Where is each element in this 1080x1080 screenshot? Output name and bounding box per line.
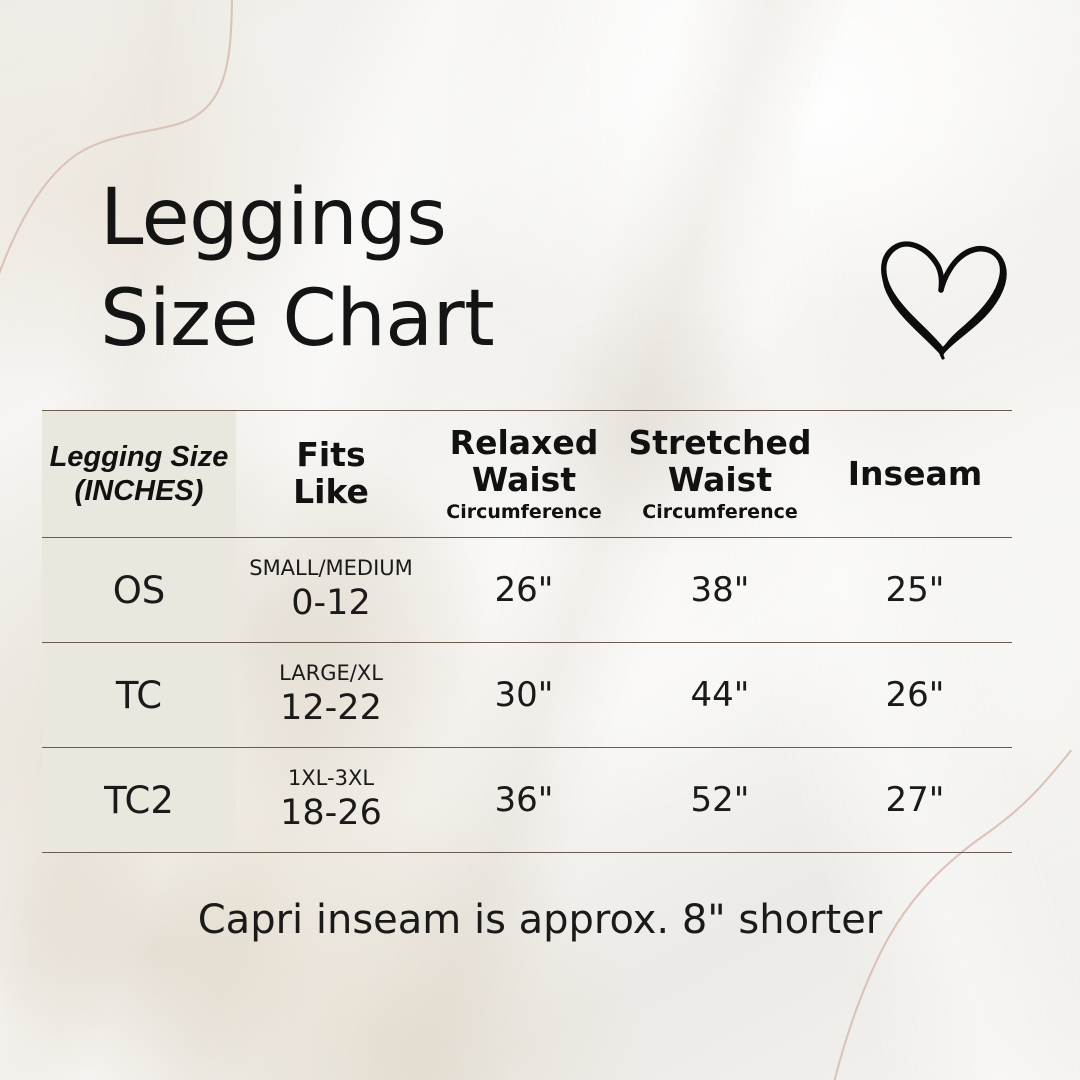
header-stretched-waist-line2: Waist	[622, 462, 818, 499]
row-1-relaxed-waist: 30"	[426, 643, 622, 748]
header-legging-size-main: Legging Size	[42, 440, 236, 474]
heart-doodle-icon	[872, 228, 1012, 360]
table-row: TC LARGE/XL 12-22 30" 44" 26"	[42, 643, 1012, 748]
header-fits-like-sub: Like	[236, 474, 426, 511]
row-2-relaxed-waist: 36"	[426, 748, 622, 853]
header-relaxed-waist-line1: Relaxed	[426, 425, 622, 462]
table-header-row: Legging Size (INCHES) Fits Like Relaxed …	[42, 411, 1012, 538]
size-chart-table-wrapper: Legging Size (INCHES) Fits Like Relaxed …	[42, 410, 1012, 853]
row-1-inseam: 26"	[818, 643, 1012, 748]
size-chart-canvas: Leggings Size Chart	[0, 0, 1080, 1080]
header-fits-like: Fits Like	[236, 411, 426, 538]
row-1-fits-range: 12-22	[236, 688, 426, 728]
row-0-inseam: 25"	[818, 538, 1012, 643]
table-row: OS SMALL/MEDIUM 0-12 26" 38" 25"	[42, 538, 1012, 643]
size-chart-table: Legging Size (INCHES) Fits Like Relaxed …	[42, 410, 1012, 853]
row-0-fits-range: 0-12	[236, 583, 426, 623]
row-1-fits-like: LARGE/XL 12-22	[236, 643, 426, 748]
header-relaxed-waist-line2: Waist	[426, 462, 622, 499]
header-stretched-waist-line1: Stretched	[622, 425, 818, 462]
row-0-stretched-waist: 38"	[622, 538, 818, 643]
row-0-relaxed-waist: 26"	[426, 538, 622, 643]
row-1-stretched-waist: 44"	[622, 643, 818, 748]
header-fits-like-main: Fits	[236, 437, 426, 474]
row-2-fits-like: 1XL-3XL 18-26	[236, 748, 426, 853]
page-title: Leggings Size Chart	[100, 168, 720, 371]
header-inseam: Inseam	[818, 411, 1012, 538]
row-2-size: TC2	[42, 748, 236, 853]
row-0-fits-like: SMALL/MEDIUM 0-12	[236, 538, 426, 643]
header-relaxed-waist: Relaxed Waist Circumference	[426, 411, 622, 538]
header-legging-size-sub: (INCHES)	[42, 474, 236, 508]
title-line-2: Size Chart	[100, 269, 720, 370]
row-2-stretched-waist: 52"	[622, 748, 818, 853]
row-0-fits-label: SMALL/MEDIUM	[236, 557, 426, 580]
header-relaxed-waist-circumference: Circumference	[426, 501, 622, 524]
header-stretched-waist-circumference: Circumference	[622, 501, 818, 524]
capri-inseam-note: Capri inseam is approx. 8" shorter	[0, 897, 1080, 943]
row-2-fits-range: 18-26	[236, 793, 426, 833]
row-2-fits-label: 1XL-3XL	[236, 767, 426, 790]
row-0-size: OS	[42, 538, 236, 643]
header-stretched-waist: Stretched Waist Circumference	[622, 411, 818, 538]
table-row: TC2 1XL-3XL 18-26 36" 52" 27"	[42, 748, 1012, 853]
row-1-fits-label: LARGE/XL	[236, 662, 426, 685]
header-inseam-main: Inseam	[818, 456, 1012, 493]
row-2-inseam: 27"	[818, 748, 1012, 853]
title-line-1: Leggings	[100, 168, 720, 269]
header-legging-size: Legging Size (INCHES)	[42, 411, 236, 538]
row-1-size: TC	[42, 643, 236, 748]
